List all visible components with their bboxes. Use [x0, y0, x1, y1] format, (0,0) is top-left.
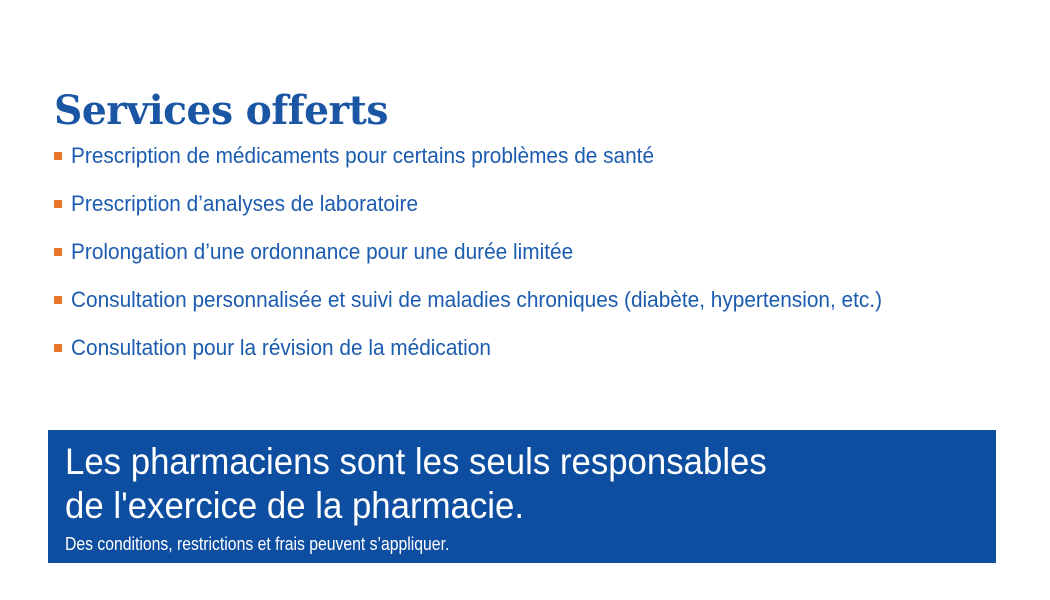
callout-banner: Les pharmaciens sont les seuls responsab… — [48, 430, 996, 563]
callout-heading-line-2: de l'exercice de la pharmacie. — [65, 484, 940, 528]
square-bullet-icon — [54, 296, 62, 304]
list-item: Prolongation d’une ordonnance pour une d… — [54, 237, 1029, 285]
square-bullet-icon — [54, 200, 62, 208]
list-item: Consultation personnalisée et suivi de m… — [54, 285, 1029, 333]
callout-heading-line-1: Les pharmaciens sont les seuls responsab… — [65, 440, 940, 484]
list-item-label: Prolongation d’une ordonnance pour une d… — [71, 237, 957, 267]
callout-disclaimer: Des conditions, restrictions et frais pe… — [65, 532, 880, 556]
list-item: Prescription d’analyses de laboratoire — [54, 189, 1029, 237]
slide-canvas: Services offerts Prescription de médicam… — [0, 0, 1050, 600]
page-title: Services offerts — [54, 88, 388, 134]
list-item-label: Prescription de médicaments pour certain… — [71, 141, 957, 171]
list-item: Consultation pour la révision de la médi… — [54, 333, 1029, 381]
services-bullet-list: Prescription de médicaments pour certain… — [54, 141, 1029, 381]
list-item-label: Consultation pour la révision de la médi… — [71, 333, 957, 363]
square-bullet-icon — [54, 248, 62, 256]
list-item-label: Consultation personnalisée et suivi de m… — [71, 285, 957, 315]
list-item: Prescription de médicaments pour certain… — [54, 141, 1029, 189]
square-bullet-icon — [54, 344, 62, 352]
callout-heading: Les pharmaciens sont les seuls responsab… — [65, 440, 940, 528]
list-item-label: Prescription d’analyses de laboratoire — [71, 189, 957, 219]
square-bullet-icon — [54, 152, 62, 160]
